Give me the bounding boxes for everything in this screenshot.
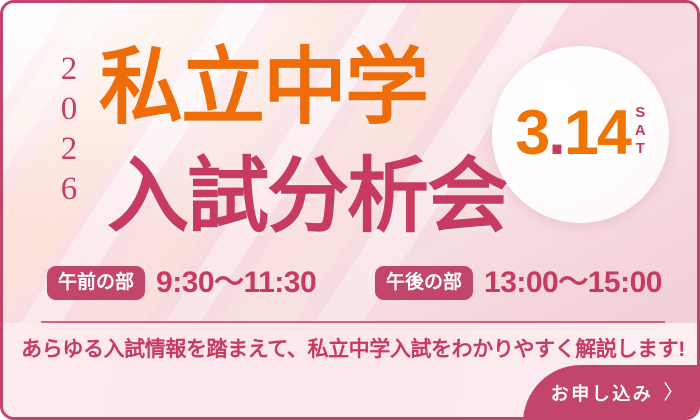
year-digit: 0 (49, 89, 89, 129)
chevron-right-icon: 〉 (663, 383, 683, 403)
date-separator: . (548, 98, 564, 168)
apply-button-label: お申し込み (551, 385, 654, 403)
event-banner: 2 0 2 6 私立中学 入試分析会 3.14 S A T 午前の部 9:30〜… (0, 0, 700, 420)
event-title-line2: 入試分析会 (107, 155, 507, 239)
date-day: 14 (564, 98, 630, 168)
tagline-text: あらゆる入試情報を踏まえて、私立中学入試をわかりやすく解説します! (3, 337, 700, 363)
date-month: 3 (515, 98, 548, 168)
session-time-morning: 9:30〜11:30 (156, 268, 316, 298)
event-date: 3.14 (515, 102, 630, 165)
event-weekday: S A T (635, 104, 646, 158)
banner-top-section: 2 0 2 6 私立中学 入試分析会 3.14 S A T 午前の部 9:30〜… (3, 3, 700, 321)
session-time-afternoon: 13:00〜15:00 (484, 268, 662, 298)
year-digit: 6 (49, 169, 89, 209)
session-badge-afternoon: 午後の部 (375, 266, 473, 300)
session-morning: 午前の部 9:30〜11:30 (47, 261, 316, 305)
year-digit: 2 (49, 49, 89, 89)
session-times: 午前の部 9:30〜11:30 午後の部 13:00〜15:00 (3, 261, 700, 305)
weekday-letter: S (635, 104, 646, 122)
event-title-line1: 私立中学 (99, 44, 427, 130)
weekday-letter: T (635, 140, 646, 158)
date-content: 3.14 S A T (492, 46, 669, 223)
apply-button[interactable]: お申し込み 〉 (523, 365, 700, 420)
banner-bottom-section: あらゆる入試情報を踏まえて、私立中学入試をわかりやすく解説します! お申し込み … (3, 323, 700, 420)
session-badge-morning: 午前の部 (47, 266, 145, 300)
weekday-letter: A (635, 122, 646, 140)
year-digit: 2 (49, 129, 89, 169)
session-afternoon: 午後の部 13:00〜15:00 (375, 261, 662, 305)
year-label: 2 0 2 6 (49, 49, 89, 209)
date-circle: 3.14 S A T (492, 46, 669, 223)
